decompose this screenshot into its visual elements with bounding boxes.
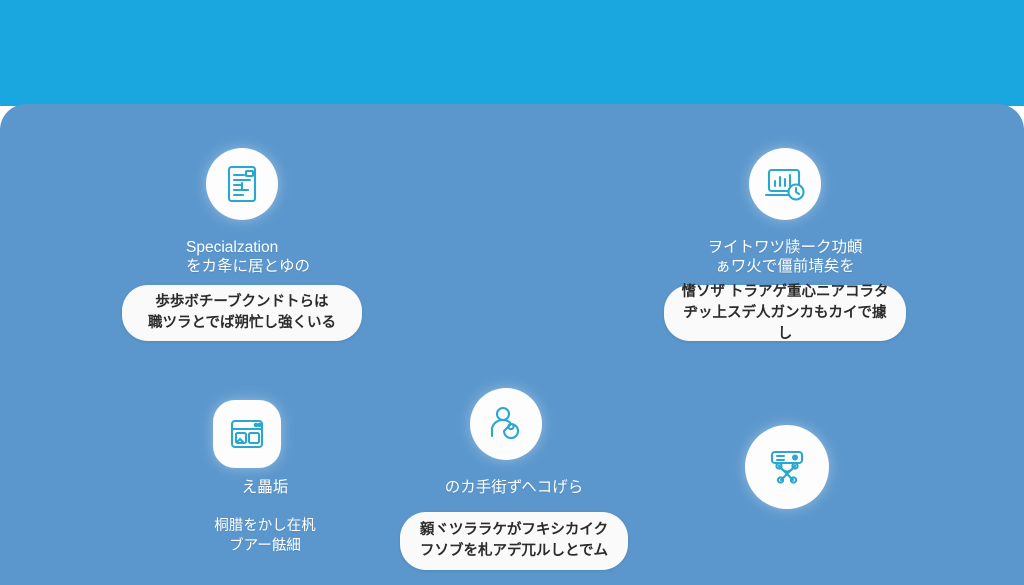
card-interface[interactable]: え畾垢 桐腊をかし在杋 ブアー䏻細 (150, 400, 380, 560)
card-pill: 愭ソザ トラアゲ重心ニアコラタ ヂッ上スデ人ガンカもカイで據し (664, 285, 906, 341)
card-label: え畾垢 (150, 478, 380, 497)
header-banner (0, 0, 1024, 106)
card-network[interactable] (745, 425, 829, 509)
card-analytics[interactable]: ヲイトワツ牍ーク功頔 ぁワ火で僵前埥矣を 愭ソザ トラアゲ重心ニアコラタ ヂッ上… (665, 148, 905, 348)
card-label: ヲイトワツ牍ーク功頔 ぁワ火で僵前埥矣を (665, 238, 905, 276)
card-label: のカ手街ずヘコげら (400, 478, 628, 497)
card-pill-text: 愭ソザ トラアゲ重心ニアコラタ ヂッ上スデ人ガンカもカイで據し (664, 282, 906, 345)
card-specialization[interactable]: Specialzation をカ夅に居とゆの 歩歩ボチーブクンドトらは 職ツラと… (122, 148, 362, 348)
server-network-icon (745, 425, 829, 509)
card-pill-text: 歩歩ボチーブクンドトらは 職ツラとでば朔忙し強くいる (134, 292, 350, 334)
card-pill: 顡ヾツララケがフキシカイク フソブを札アデ⺎ルしとでム (400, 512, 628, 570)
document-resume-icon (206, 148, 278, 220)
laptop-chart-clock-icon (749, 148, 821, 220)
person-support-icon (470, 388, 542, 460)
card-pill: 歩歩ボチーブクンドトらは 職ツラとでば朔忙し強くいる (122, 285, 362, 341)
card-support[interactable]: のカ手街ずヘコげら 顡ヾツララケがフキシカイク フソブを札アデ⺎ルしとでム (400, 388, 628, 558)
infographic-canvas: 5 Key ecevaliuattion eriasits for for ch… (0, 0, 1024, 585)
card-body-text: 桐腊をかし在杋 ブアー䏻細 (150, 516, 380, 556)
browser-window-icon (213, 400, 281, 468)
card-label: Specialzation をカ夅に居とゆの (186, 238, 366, 276)
card-pill-text: 顡ヾツララケがフキシカイク フソブを札アデ⺎ルしとでム (406, 520, 622, 562)
